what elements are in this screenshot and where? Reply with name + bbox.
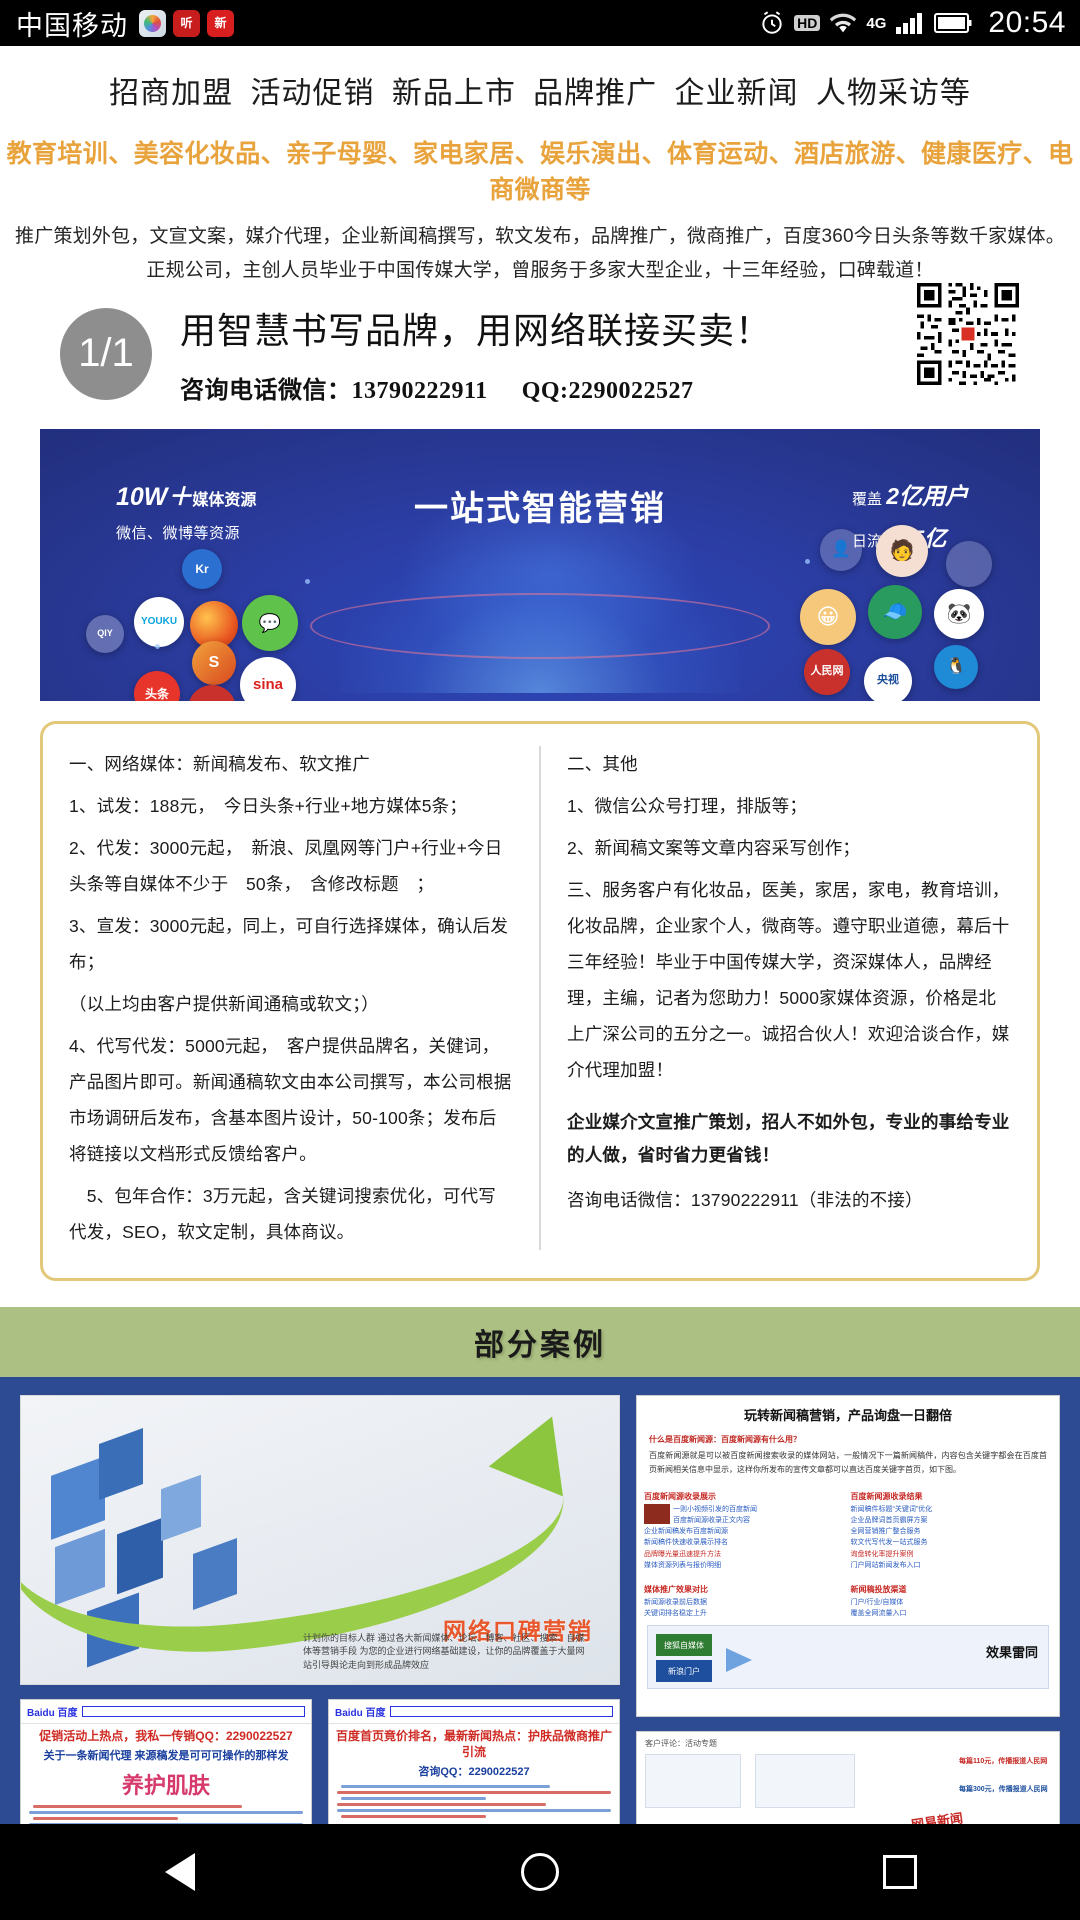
page-content: 招商加盟 活动促销 新品上市 品牌推广 企业新闻 人物采访等 教育培训、美容化妆… [0,46,1080,1890]
cases-section-title: 部分案例 [474,1320,606,1364]
industries-line: 教育培训、美容化妆品、亲子母婴、家电家居、娱乐演出、体育运动、酒店旅游、健康医疗… [0,122,1080,220]
left-item-4: （以上均由客户提供新闻通稿或软文；） [69,986,513,1022]
home-button[interactable] [480,1842,600,1902]
case-doc-body: 百度新闻源就是可以被百度新闻搜索收录的媒体网站，一般情况下一篇新闻稿件，内容包含… [637,1445,1059,1478]
info-right-column: 二、其他 1、微信公众号打理，排版等； 2、新闻稿文案等文章内容采写创作； 三、… [567,746,1011,1250]
baidu-search-bar-1[interactable]: Baidu 百度 [21,1700,311,1724]
home-icon [521,1853,559,1891]
android-nav-bar [0,1824,1080,1920]
bottom-price-blue: 每篇300元，传播报道人民网 [959,1784,1051,1794]
page-badge: 1/1 [60,308,152,400]
left-item-0: 一、网络媒体：新闻稿发布、软文推广 [69,746,513,782]
status-indicators: HD 4G [759,6,1066,40]
media-bubble-iqiyi: QIY [86,615,124,653]
signal-icon [895,11,925,35]
case-2-blue-head: 咨询QQ：2290022527 [329,1760,619,1782]
contact-line: 咨询电话微信：13790222911QQ:2290022527 [180,370,772,405]
thumb-image-1 [644,1504,670,1524]
phone-screen: 中国移动 听 新 HD 4G [0,0,1080,1920]
left-item-6: 5、包年合作：3万元起，含关键词搜索优化，可代写代发，SEO，软文定制，具体商议… [69,1178,513,1250]
media-bubble-netease: 网易 [188,685,236,701]
categories-line: 招商加盟 活动促销 新品上市 品牌推广 企业新闻 人物采访等 [0,46,1080,122]
left-item-1: 1、试发：188元， 今日头条+行业+地方媒体5条； [69,788,513,824]
baidu-search-bar-2[interactable]: Baidu 百度 [329,1700,619,1724]
case-doc-subtitle: 什么是百度新闻源：百度新闻源有什么用？ [637,1426,1059,1445]
cases-gallery: 网络口碑营销 计划你的目标人群 通过各大新闻媒体、论坛、博客、社区、搜索、自媒体… [0,1377,1080,1890]
thumb-red-title-1: 百度新闻源收录展示 [644,1491,846,1502]
gallery-icon [139,10,166,37]
status-bar: 中国移动 听 新 HD 4G [0,0,1080,46]
baidu-search-input-1[interactable] [82,1706,305,1717]
media-bubble-cctv: 央视 [864,657,912,701]
right-item-3: 三、服务客户有化妆品，医美，家居，家电，教育培训，化妆品牌，企业家个人，微商等。… [567,872,1011,1088]
media-bubble-36kr: Kr [182,549,222,589]
thumb-red-title-2: 百度新闻源收录结果 [851,1491,1053,1502]
case-2-red-head: 百度首页竟价排名，最新新闻热点：护肤品微商推广引流 [329,1724,619,1760]
cases-right-column: 玩转新闻稿营销，产品询盘一日翻倍 什么是百度新闻源：百度新闻源有什么用？ 百度新… [636,1395,1060,1864]
case-doc-stamp: 效果雷同 [986,1642,1038,1661]
page-title: 用智慧书写品牌，用网络联接买卖！ [180,302,772,354]
contact-label: 咨询电话微信： [180,378,352,404]
qr-code-icon [914,280,1022,388]
baidu-search-input-2[interactable] [390,1706,613,1717]
media-bubble-youku: YOUKU [134,597,184,647]
contact-phone: 13790222911 [352,378,488,404]
alarm-icon [759,10,785,36]
influencer-avatar-5: 🧢 [868,585,922,639]
media-bubble-sohu: S [192,641,236,685]
case-1-red-head: 促销活动上热点，我私一传销QQ：2290022527 [21,1724,311,1744]
right-item-1: 1、微信公众号打理，排版等； [567,788,1011,824]
case-doc-thumb-col-2: 百度新闻源收录结果 新闻稿件标题“关键词”优化 企业品牌词首页霸屏方案 全网营销… [851,1488,1053,1571]
red-app-icon: 新 [207,10,234,37]
media-bubble-sina: sina [240,657,296,701]
cases-section-header: 部分案例 [0,1307,1080,1377]
carrier-label: 中国移动 [16,4,128,43]
ting-app-icon: 听 [173,10,200,37]
banner-right-line1-value: 2亿用户 [886,483,968,509]
case-doc-lower: 媒体推广效果对比 新闻源收录前后数据 关键词排名稳定上升 新闻稿投放渠道 门户/… [637,1575,1059,1619]
influencer-avatar-6: 🐼 [934,589,984,639]
media-bubble-tencent: 🐧 [934,645,978,689]
influencer-avatar-4: 😀 [800,589,856,645]
recents-icon [883,1855,917,1889]
left-item-2: 2、代发：3000元起， 新浪、凤凰网等门户+行业+今日头条等自媒体不少于 50… [69,830,513,902]
left-item-5: 4、代写代发：5000元起， 客户提供品牌名，关健词，产品图片即可。新闻通稿软文… [69,1028,513,1172]
right-item-2: 2、新闻稿文案等文章内容采写创作； [567,830,1011,866]
case-doc-diagram: 搜狐自媒体 新浪门户 效果雷同 [647,1625,1049,1689]
influencer-avatar-1: 👤 [820,529,862,571]
right-bold-slogan: 企业媒介文宣推广策划，招人不如外包，专业的事给专业的人做，省时省力更省钱！ [567,1106,1011,1172]
info-card-section: 一、网络媒体：新闻稿发布、软文推广 1、试发：188元， 今日头条+行业+地方媒… [0,701,1080,1281]
case-screenshot-big[interactable]: 网络口碑营销 计划你的目标人群 通过各大新闻媒体、论坛、博客、社区、搜索、自媒体… [20,1395,620,1685]
clock-label: 20:54 [988,6,1066,40]
recents-button[interactable] [840,1842,960,1902]
cases-left-column: 网络口碑营销 计划你的目标人群 通过各大新闻媒体、论坛、博客、社区、搜索、自媒体… [20,1395,620,1864]
battery-icon [934,12,974,34]
case-doc-title: 玩转新闻稿营销，产品询盘一日翻倍 [637,1396,1059,1426]
case-1-pink-title: 养护肌肤 [21,1766,311,1802]
media-bubble-wechat: 💬 [242,595,298,651]
right-contact-note: 咨询电话微信：13790222911（非法的不接） [567,1182,1011,1218]
left-item-3: 3、宣发：3000元起，同上，可自行选择媒体，确认后发布； [69,908,513,980]
baidu-logo-icon-2: Baidu 百度 [335,1704,386,1719]
info-left-column: 一、网络媒体：新闻稿发布、软文推广 1、试发：188元， 今日头条+行业+地方媒… [69,746,513,1250]
media-bubble-people: 人民网 [804,649,850,695]
case-big-subcaption: 计划你的目标人群 通过各大新闻媒体、论坛、博客、社区、搜索、自媒体等营销手段 为… [303,1632,593,1673]
media-bubble-toutiao: 头条 [134,671,180,701]
right-item-0: 二、其他 [567,746,1011,782]
back-button[interactable] [120,1842,240,1902]
banner-section: 10W＋媒体资源 微信、微博等资源 一站式智能营销 覆盖 2亿用户 日流量超5亿… [0,405,1080,701]
wifi-icon [829,11,857,35]
baidu-logo-icon: Baidu 百度 [27,1704,78,1719]
case-doc-thumbs: 百度新闻源收录展示 一则小视频引发的百度新闻 百度新闻源收录正文内容 企业新闻稿… [637,1484,1059,1575]
marketing-banner: 10W＋媒体资源 微信、微博等资源 一站式智能营销 覆盖 2亿用户 日流量超5亿… [40,429,1040,701]
headline-block: 用智慧书写品牌，用网络联接买卖！ 咨询电话微信：13790222911QQ:22… [180,302,772,405]
contact-qq: QQ:2290022527 [522,378,694,404]
column-divider [539,746,541,1250]
4g-icon: 4G [866,15,886,32]
banner-right-line1-prefix: 覆盖 [852,491,882,508]
case-1-blue-head: 关于一条新闻代理 来源稿发是可可可操作的那样发 [21,1744,311,1766]
case-screenshot-doc[interactable]: 玩转新闻稿营销，产品询盘一日翻倍 什么是百度新闻源：百度新闻源有什么用？ 百度新… [636,1395,1060,1717]
headline-row: 1/1 用智慧书写品牌，用网络联接买卖！ 咨询电话微信：13790222911Q… [0,288,1080,405]
info-card: 一、网络媒体：新闻稿发布、软文推广 1、试发：188元， 今日头条+行业+地方媒… [40,721,1040,1281]
bottom-note-title: 客户评论：活动专题 [645,1738,717,1749]
hd-icon: HD [794,15,820,31]
case-doc-thumb-col-1: 百度新闻源收录展示 一则小视频引发的百度新闻 百度新闻源收录正文内容 企业新闻稿… [644,1488,846,1571]
back-icon [165,1853,195,1891]
influencer-avatar-3 [946,541,992,587]
status-bar-app-icons: 听 新 [139,10,234,37]
bottom-price-red: 每篇110元，传播报道人民网 [959,1756,1051,1766]
desc-line-1: 推广策划外包，文宣文案，媒介代理，企业新闻稿撰写，软文发布，品牌推广，微商推广，… [0,220,1080,254]
influencer-avatar-2: 🧑 [876,525,928,577]
